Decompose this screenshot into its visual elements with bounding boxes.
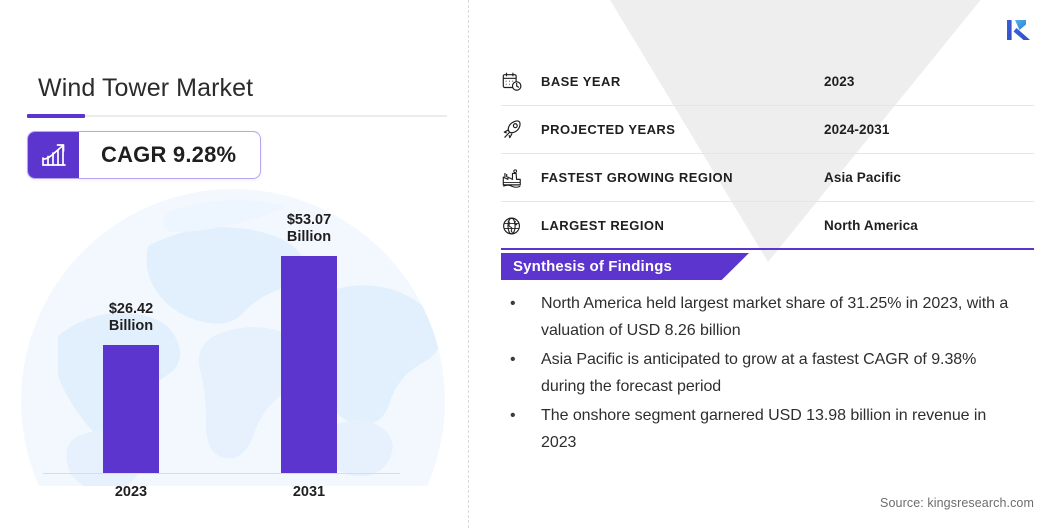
synthesis-banner: Synthesis of Findings [501, 253, 749, 280]
source-note: Source: kingsresearch.com [880, 496, 1034, 510]
bullet-glyph: • [501, 402, 541, 456]
right-panel: BASE YEAR 2023 PROJECTED YEA [468, 0, 1056, 528]
title-underline [27, 115, 447, 117]
bullet-glyph: • [501, 290, 541, 344]
cagr-value-label: CAGR 9.28% [79, 132, 260, 178]
fact-row-largest-region: LARGEST REGION North America [501, 202, 1034, 250]
fact-row-base-year: BASE YEAR 2023 [501, 58, 1034, 106]
finding-text: The onshore segment garnered USD 13.98 b… [541, 402, 1021, 456]
fact-value: Asia Pacific [824, 170, 1034, 185]
bar-chart: $26.42 Billion 2023 $53.07 Billion 2031 [0, 200, 468, 510]
fact-label: PROJECTED YEARS [541, 122, 824, 137]
kings-research-k-logo [1004, 15, 1034, 45]
calendar-clock-icon [501, 71, 541, 93]
fact-label: FASTEST GROWING REGION [541, 170, 824, 185]
fact-value: 2023 [824, 74, 1034, 89]
fact-value: 2024-2031 [824, 122, 1034, 137]
bar-value-label-2023: $26.42 Billion [76, 301, 186, 335]
page-title: Wind Tower Market [38, 74, 253, 103]
bar-2023 [103, 345, 159, 473]
title-underline-accent [27, 114, 85, 118]
cagr-badge: CAGR 9.28% [27, 131, 261, 179]
list-item: • Asia Pacific is anticipated to grow at… [501, 346, 1021, 400]
list-item: • North America held largest market shar… [501, 290, 1021, 344]
synthesis-divider [501, 248, 1034, 250]
fact-label: LARGEST REGION [541, 218, 824, 233]
globe-icon [501, 215, 541, 237]
key-facts-table: BASE YEAR 2023 PROJECTED YEA [501, 58, 1034, 250]
bar-category-2031: 2031 [254, 484, 364, 500]
finding-text: Asia Pacific is anticipated to grow at a… [541, 346, 1021, 400]
bar-value-label-2031: $53.07 Billion [254, 212, 364, 246]
findings-list: • North America held largest market shar… [501, 290, 1021, 458]
fact-value: North America [824, 218, 1034, 233]
infographic-canvas: Wind Tower Market CA [0, 0, 1056, 528]
bar-category-2023: 2023 [76, 484, 186, 500]
left-panel: Wind Tower Market CA [0, 0, 468, 528]
bar-2031 [281, 256, 337, 473]
fact-label: BASE YEAR [541, 74, 824, 89]
factory-icon [501, 167, 541, 189]
bullet-glyph: • [501, 346, 541, 400]
finding-text: North America held largest market share … [541, 290, 1021, 344]
chart-axis-line [43, 473, 400, 474]
bar-chart-growth-icon [28, 132, 79, 178]
rocket-icon [501, 119, 541, 141]
synthesis-heading: Synthesis of Findings [501, 258, 672, 275]
fact-row-fastest-growing-region: FASTEST GROWING REGION Asia Pacific [501, 154, 1034, 202]
list-item: • The onshore segment garnered USD 13.98… [501, 402, 1021, 456]
fact-row-projected-years: PROJECTED YEARS 2024-2031 [501, 106, 1034, 154]
